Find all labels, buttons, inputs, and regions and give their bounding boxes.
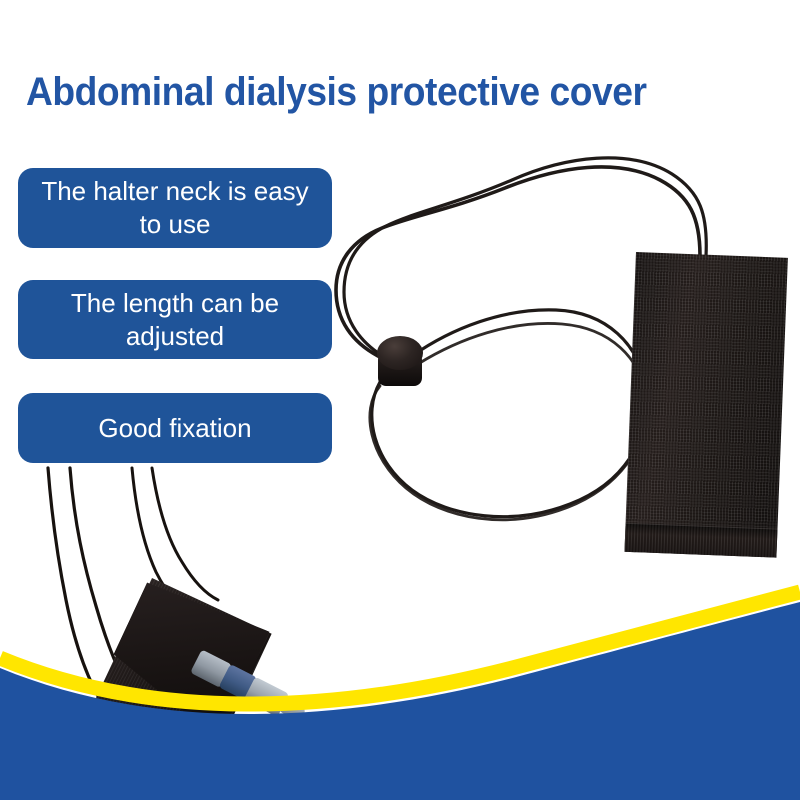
feature-badge-good-fixation: Good fixation <box>18 393 332 463</box>
product-marketing-image: Abdominal dialysis protective cover The … <box>0 0 800 800</box>
feature-badge-label: The halter neck is easy to use <box>28 175 322 241</box>
feature-badge-label: Good fixation <box>98 412 251 445</box>
feature-badge-label: The length can be adjusted <box>28 287 322 353</box>
page-title: Abdominal dialysis protective cover <box>26 70 714 114</box>
feature-badge-length-adjust: The length can be adjusted <box>18 280 332 359</box>
feature-badge-halter-neck: The halter neck is easy to use <box>18 168 332 248</box>
